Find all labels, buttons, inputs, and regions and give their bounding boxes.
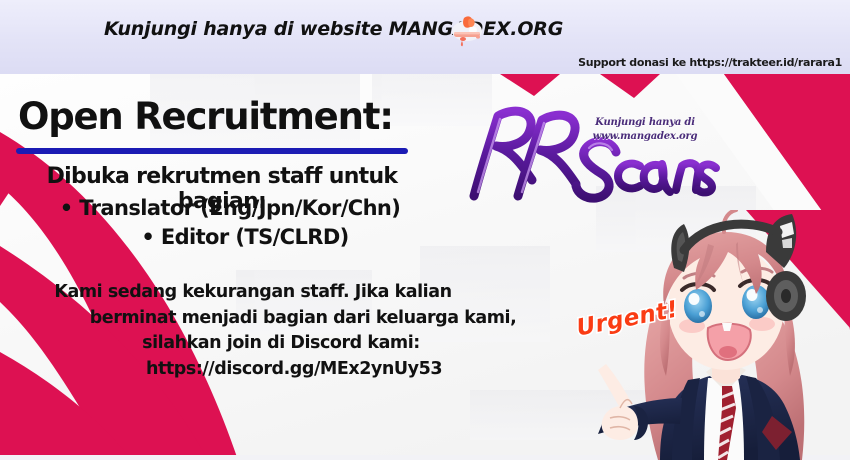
list-item: • Translator (Eng/Jpn/Kor/Chn): [0, 196, 444, 220]
mangadex-flame-icon: [447, 12, 487, 50]
body-line: Kami sedang kekurangan staff. Jika kalia…: [28, 280, 532, 306]
role-list: • Translator (Eng/Jpn/Kor/Chn) • Editor …: [0, 196, 444, 249]
poster-canvas: Kunjungi hanya di website MANGADEX.ORG S…: [0, 0, 850, 460]
headline-underline: [16, 148, 408, 154]
body-paragraph: Kami sedang kekurangan staff. Jika kalia…: [28, 280, 532, 382]
page-title: Open Recruitment:: [18, 95, 393, 138]
top-banner: Kunjungi hanya di website MANGADEX.ORG S…: [0, 0, 850, 74]
anime-girl-pointing-illustration: [596, 210, 850, 460]
discord-invite-link[interactable]: https://discord.gg/MEx2ynUy53: [28, 357, 532, 383]
banner-title: Kunjungi hanya di website MANGADEX.ORG: [104, 18, 563, 40]
support-donation-text: Support donasi ke https://trakteer.id/ra…: [578, 56, 842, 69]
body-line: berminat menjadi bagian dari keluarga ka…: [28, 306, 532, 332]
body-line: silahkan join di Discord kami:: [28, 331, 532, 357]
list-item: • Editor (TS/CLRD): [0, 225, 444, 249]
poster-text-block: Open Recruitment: Dibuka rekrutmen staff…: [0, 74, 560, 460]
